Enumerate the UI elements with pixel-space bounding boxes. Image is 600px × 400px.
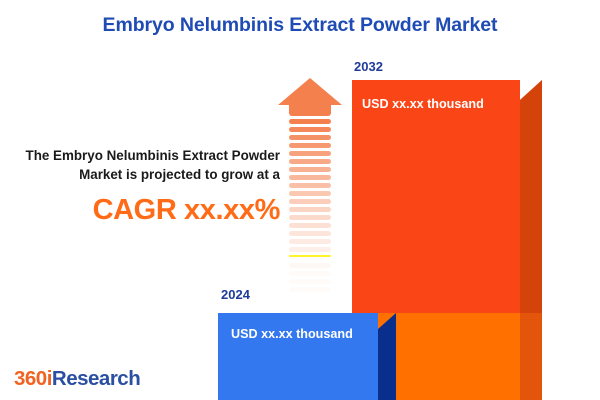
cagr-value: CAGR xx.xx% (12, 193, 280, 227)
arrow-stripe (289, 263, 331, 268)
logo-text-360: 360 (14, 367, 47, 390)
arrow-stripe (289, 207, 331, 212)
arrow-stripe (289, 151, 331, 156)
year-label-2032: 2032 (354, 59, 383, 74)
arrow-stripe (289, 183, 331, 188)
bar-2032-side-face-upper (520, 80, 542, 313)
arrow-stripe (289, 231, 331, 236)
narrative-lead-text: The Embryo Nelumbinis Extract Powder Mar… (12, 147, 280, 184)
arrow-stripe (289, 199, 331, 204)
growth-arrow-icon (278, 78, 342, 294)
arrow-stripe (289, 167, 331, 172)
year-label-2024: 2024 (221, 287, 250, 302)
arrow-stripe (289, 127, 331, 132)
arrow-stripe (289, 135, 331, 140)
arrow-stripe (289, 119, 331, 124)
logo-text-research: Research (52, 367, 140, 390)
market-growth-infographic: Embryo Nelumbinis Extract Powder Market … (0, 0, 600, 400)
bar-2032-front-upper (352, 80, 520, 313)
bar-2032-value-label: USD xx.xx thousand (362, 97, 484, 111)
arrow-stripe (289, 215, 331, 220)
arrow-stripe (289, 287, 331, 292)
arrow-stripe (289, 271, 331, 276)
page-title: Embryo Nelumbinis Extract Powder Market (0, 14, 600, 37)
arrow-stripe (289, 143, 331, 148)
arrow-stripe (289, 159, 331, 164)
arrow-stripe (289, 255, 331, 257)
arrow-stripe (289, 247, 331, 252)
bar-2024-value-label: USD xx.xx thousand (231, 327, 353, 341)
arrow-stripe (289, 279, 331, 284)
arrow-stripe (289, 191, 331, 196)
narrative-block: The Embryo Nelumbinis Extract Powder Mar… (12, 147, 280, 227)
arrow-stripe (289, 223, 331, 228)
arrow-neck-shape (289, 105, 331, 116)
arrow-stripe (289, 239, 331, 244)
arrow-stripe-stack (289, 119, 331, 294)
arrow-head-icon (278, 78, 342, 105)
brand-logo: 360iResearch (14, 367, 140, 391)
arrow-stripe (289, 175, 331, 180)
